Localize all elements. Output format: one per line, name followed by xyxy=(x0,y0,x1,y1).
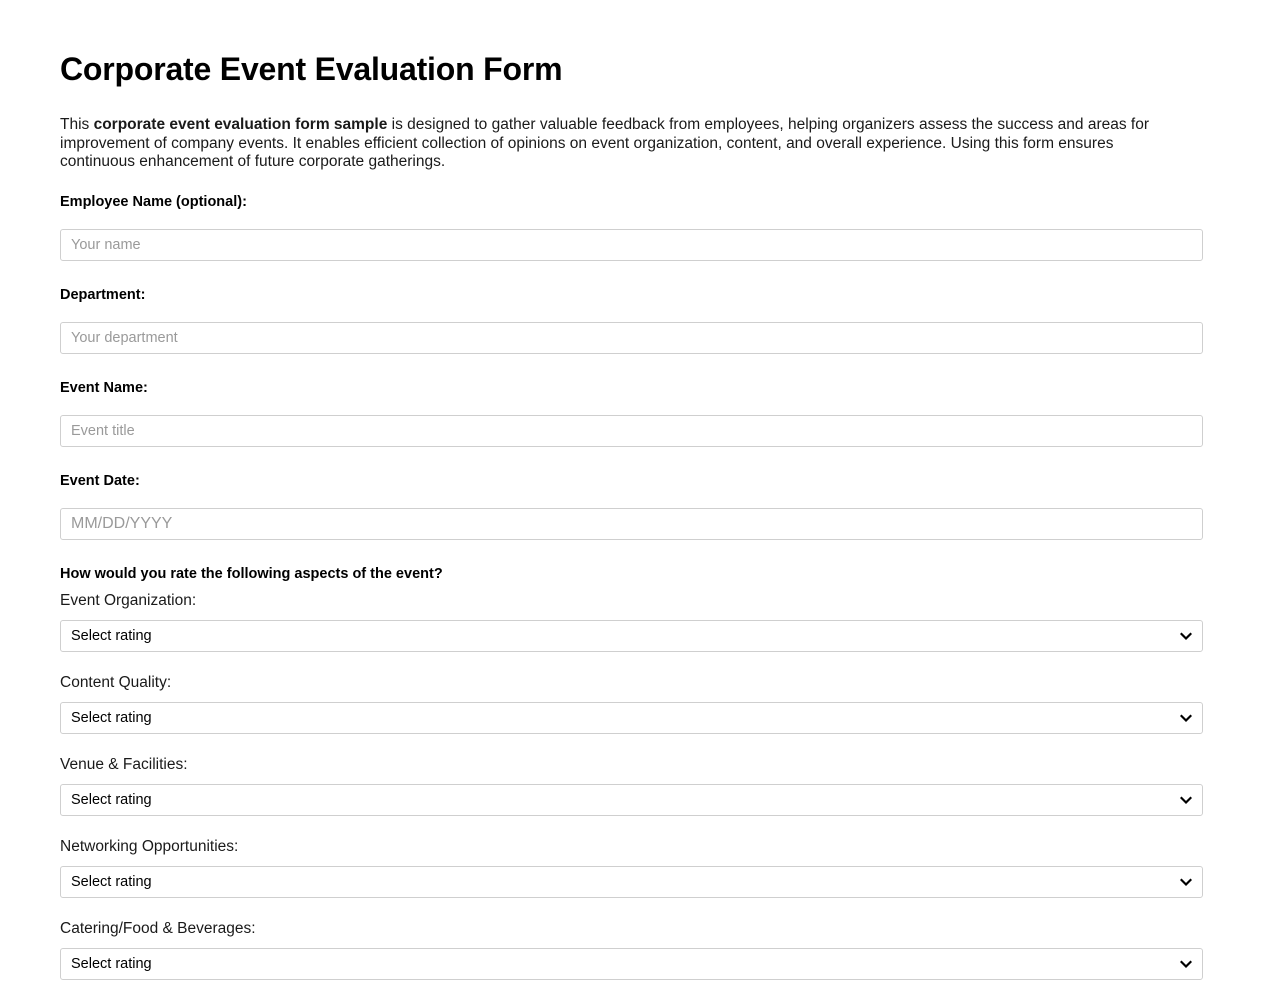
rating-row-networking-opportunities: Networking Opportunities: Select rating xyxy=(60,838,1203,898)
rating-select-networking-opportunities[interactable]: Select rating xyxy=(60,866,1203,898)
department-label: Department: xyxy=(60,287,1203,304)
intro-paragraph: This corporate event evaluation form sam… xyxy=(60,116,1190,172)
rating-row-catering-food-beverages: Catering/Food & Beverages: Select rating xyxy=(60,920,1203,980)
rating-select-venue-facilities[interactable]: Select rating xyxy=(60,784,1203,816)
department-field-block: Department: xyxy=(60,287,1203,354)
rating-select-wrap-networking-opportunities: Select rating xyxy=(60,866,1203,898)
rating-select-event-organization[interactable]: Select rating xyxy=(60,620,1203,652)
rating-label-event-organization: Event Organization: xyxy=(60,592,1203,610)
page-title: Corporate Event Evaluation Form xyxy=(60,50,1203,88)
department-input[interactable] xyxy=(60,322,1203,354)
employee-name-input[interactable] xyxy=(60,229,1203,261)
event-date-field-block: Event Date: xyxy=(60,473,1203,540)
intro-bold-phrase: corporate event evaluation form sample xyxy=(94,116,388,133)
rating-select-value-venue-facilities: Select rating xyxy=(71,789,152,811)
event-name-input[interactable] xyxy=(60,415,1203,447)
event-date-input[interactable] xyxy=(60,508,1203,540)
rating-select-catering-food-beverages[interactable]: Select rating xyxy=(60,948,1203,980)
rating-row-event-organization: Event Organization: Select rating xyxy=(60,592,1203,652)
intro-prefix: This xyxy=(60,116,94,133)
event-name-field-block: Event Name: xyxy=(60,380,1203,447)
rating-select-value-catering-food-beverages: Select rating xyxy=(71,953,152,975)
rating-select-wrap-catering-food-beverages: Select rating xyxy=(60,948,1203,980)
rating-label-content-quality: Content Quality: xyxy=(60,674,1203,692)
rating-select-value-event-organization: Select rating xyxy=(71,625,152,647)
rating-row-venue-facilities: Venue & Facilities: Select rating xyxy=(60,756,1203,816)
employee-name-label: Employee Name (optional): xyxy=(60,194,1203,211)
rating-label-catering-food-beverages: Catering/Food & Beverages: xyxy=(60,920,1203,938)
ratings-section: How would you rate the following aspects… xyxy=(60,566,1203,980)
ratings-section-heading: How would you rate the following aspects… xyxy=(60,566,1203,583)
rating-label-venue-facilities: Venue & Facilities: xyxy=(60,756,1203,774)
employee-name-field-block: Employee Name (optional): xyxy=(60,194,1203,261)
rating-select-content-quality[interactable]: Select rating xyxy=(60,702,1203,734)
rating-select-wrap-event-organization: Select rating xyxy=(60,620,1203,652)
rating-row-content-quality: Content Quality: Select rating xyxy=(60,674,1203,734)
rating-select-value-content-quality: Select rating xyxy=(71,707,152,729)
rating-select-value-networking-opportunities: Select rating xyxy=(71,871,152,893)
rating-select-wrap-content-quality: Select rating xyxy=(60,702,1203,734)
event-date-label: Event Date: xyxy=(60,473,1203,490)
rating-label-networking-opportunities: Networking Opportunities: xyxy=(60,838,1203,856)
form-page: Corporate Event Evaluation Form This cor… xyxy=(0,0,1263,980)
rating-select-wrap-venue-facilities: Select rating xyxy=(60,784,1203,816)
event-name-label: Event Name: xyxy=(60,380,1203,397)
